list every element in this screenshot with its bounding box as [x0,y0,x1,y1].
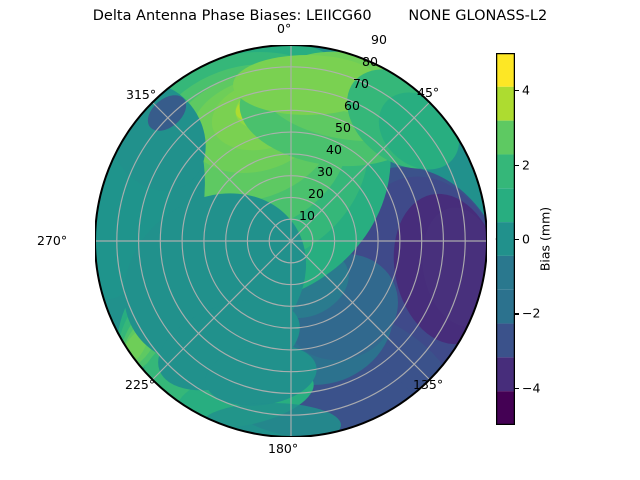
figure-canvas: Delta Antenna Phase Biases: LEIICG60 NON… [0,0,640,480]
colorbar-tick-mark-4 [515,90,519,91]
azimuth-label-0: 0° [277,21,291,36]
radial-label-60: 60 [344,98,360,113]
azimuth-label-45: 45° [417,85,439,100]
azimuth-label-180: 180° [268,441,298,456]
radial-label-50: 50 [335,120,351,135]
colorbar[interactable]: 4 2 0 −2 −4 [496,53,515,425]
radial-label-70: 70 [353,76,369,91]
radial-label-20: 20 [308,186,324,201]
azimuth-label-270: 270° [37,233,67,248]
colorbar-tick-label-2: 2 [522,157,530,172]
radial-label-40: 40 [326,142,342,157]
colorbar-tick-mark-2 [515,165,519,166]
radial-label-80: 80 [362,54,378,69]
azimuth-label-225: 225° [125,377,155,392]
radial-label-30: 30 [317,164,333,179]
polar-axes[interactable]: 0° 45° 90 135° 180° 225° 270° 315° 10 20… [95,45,487,437]
colorbar-axis-label: Bias (mm) [538,207,553,271]
colorbar-tick-label-n4: −4 [522,380,540,395]
colorbar-tick-mark-n4 [515,388,519,389]
colorbar-gradient [496,53,515,425]
colorbar-tick-mark-n2 [515,313,519,314]
colorbar-tick-label-0: 0 [522,232,530,247]
radial-label-90: 90 [371,32,387,47]
colorbar-tick-label-n2: −2 [522,306,540,321]
azimuth-label-315: 315° [126,87,156,102]
azimuth-label-135: 135° [413,377,443,392]
page-title: Delta Antenna Phase Biases: LEIICG60 NON… [0,8,640,24]
colorbar-tick-mark-0 [515,239,519,240]
colorbar-bands [496,53,515,425]
radial-label-10: 10 [299,208,315,223]
colorbar-tick-label-4: 4 [522,83,530,98]
